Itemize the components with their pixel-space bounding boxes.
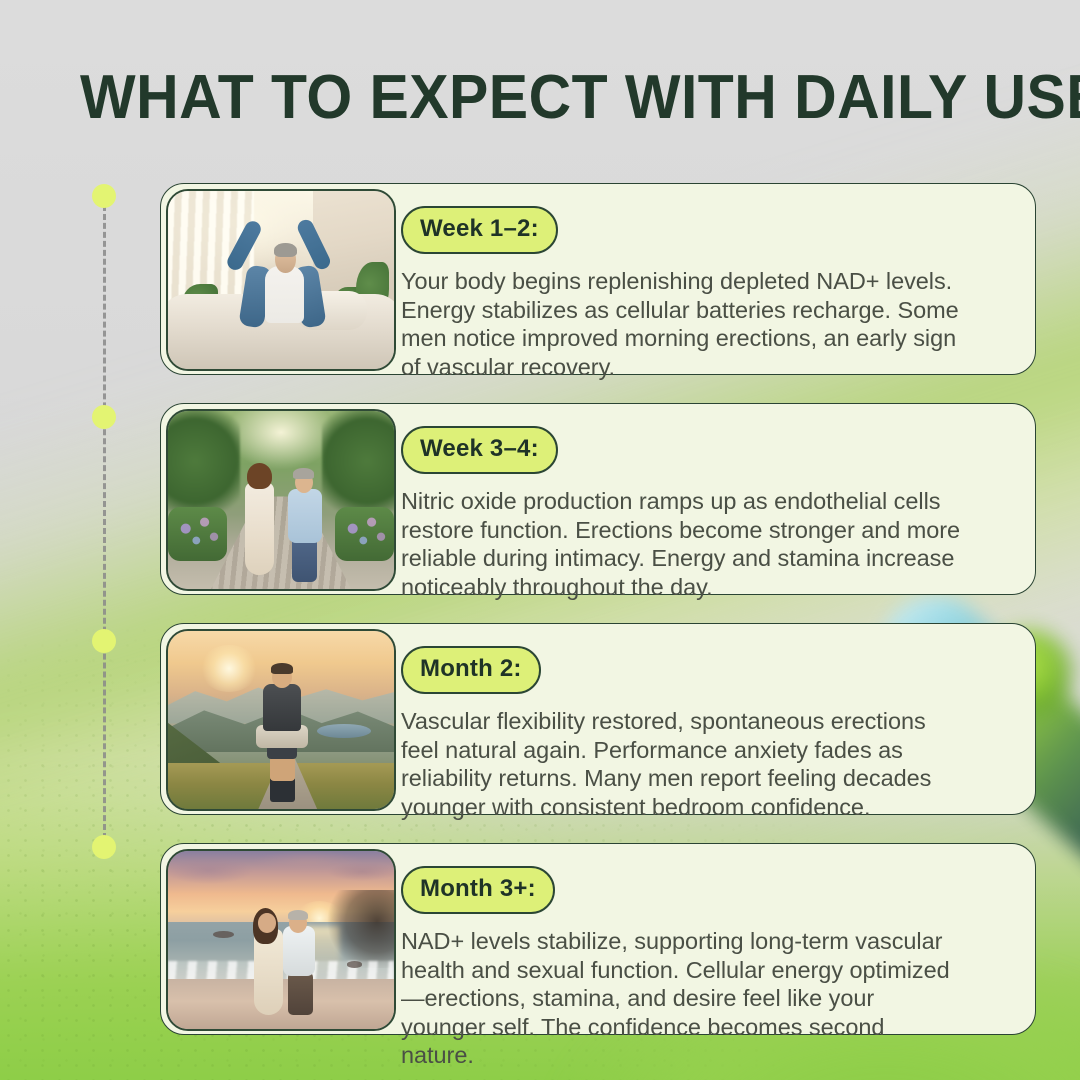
bedroom-illustration: [168, 191, 394, 369]
timeline-dot-week-3-4: [92, 405, 116, 429]
card-badge-month-2: Month 2:: [401, 646, 541, 694]
card-text-week-1-2: Your body begins replenishing depleted N…: [401, 267, 961, 381]
card-body-week-1-2: Week 1–2: Your body begins replenishing …: [401, 184, 1035, 401]
timeline-dot-week-1-2: [92, 184, 116, 208]
timeline-dot-month-3-plus: [92, 835, 116, 859]
card-image-week-1-2: [166, 189, 396, 371]
page-title: WHAT TO EXPECT WITH DAILY USE: [80, 63, 1080, 133]
timeline-dot-month-2: [92, 629, 116, 653]
card-image-week-3-4: [166, 409, 396, 591]
timeline-card-week-1-2[interactable]: Week 1–2: Your body begins replenishing …: [160, 183, 1036, 375]
card-body-month-3-plus: Month 3+: NAD+ levels stabilize, support…: [401, 844, 1035, 1080]
card-body-week-3-4: Week 3–4: Nitric oxide production ramps …: [401, 404, 1035, 621]
timeline-dashed-line: [103, 196, 106, 848]
card-badge-week-1-2: Week 1–2:: [401, 206, 558, 254]
infographic-page: WHAT TO EXPECT WITH DAILY USE: [0, 0, 1080, 1080]
card-image-month-3-plus: [166, 849, 396, 1031]
beach-sunset-illustration: [168, 851, 394, 1029]
card-text-week-3-4: Nitric oxide production ramps up as endo…: [401, 487, 961, 601]
mountain-hike-illustration: [168, 631, 394, 809]
card-badge-week-3-4: Week 3–4:: [401, 426, 558, 474]
card-body-month-2: Month 2: Vascular flexibility restored, …: [401, 624, 1035, 841]
card-badge-month-3-plus: Month 3+:: [401, 866, 555, 914]
timeline-card-month-3-plus[interactable]: Month 3+: NAD+ levels stabilize, support…: [160, 843, 1036, 1035]
garden-walk-illustration: [168, 411, 394, 589]
card-image-month-2: [166, 629, 396, 811]
card-text-month-2: Vascular flexibility restored, spontaneo…: [401, 707, 961, 821]
timeline-card-week-3-4[interactable]: Week 3–4: Nitric oxide production ramps …: [160, 403, 1036, 595]
timeline-card-month-2[interactable]: Month 2: Vascular flexibility restored, …: [160, 623, 1036, 815]
card-text-month-3-plus: NAD+ levels stabilize, supporting long-t…: [401, 927, 961, 1070]
